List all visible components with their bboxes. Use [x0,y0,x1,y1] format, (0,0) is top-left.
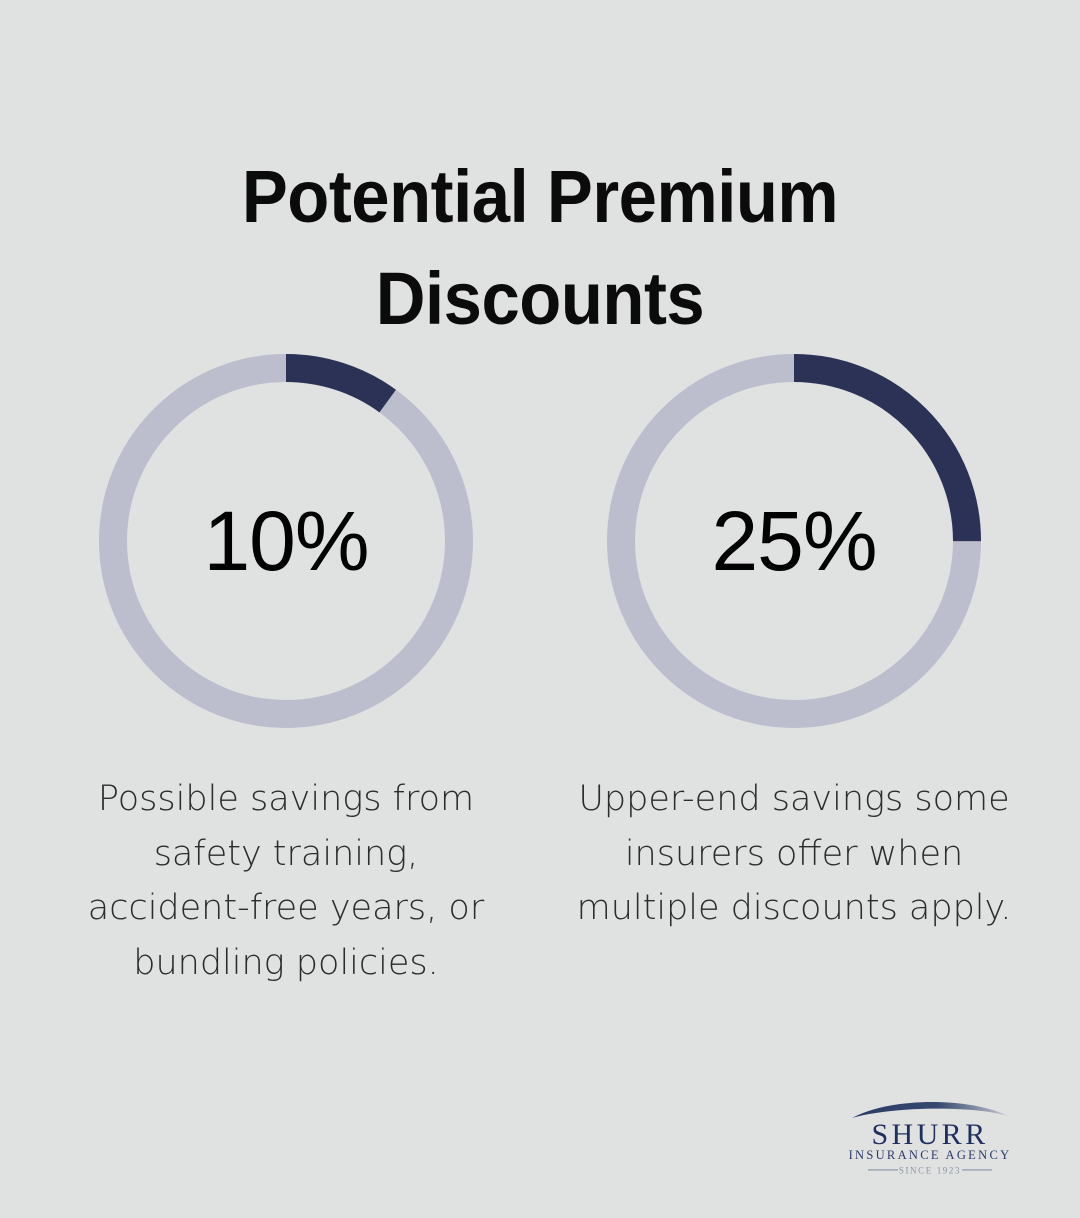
donut-chart-1: 10% [99,354,473,728]
donut-chart-block-2: 25% Upper-end savings some insurers offe… [607,354,981,1025]
donut-caption-2: Upper-end savings some insurers offer wh… [566,772,1022,936]
donut-value-2: 25% [607,354,981,728]
donut-value-1: 10% [99,354,473,728]
logo-divider-right [962,1169,992,1170]
donut-chart-block-1: 10% Possible savings from safety trainin… [99,354,473,1025]
page-title: Potential Premium Discounts [94,146,987,350]
logo-subtitle: INSURANCE AGENCY [849,1148,1012,1162]
logo-tagline: SINCE 1923 [899,1166,961,1176]
shurr-insurance-agency-logo: SHURR INSURANCE AGENCY SINCE 1923 [846,1098,1014,1180]
logo-svg: SHURR INSURANCE AGENCY SINCE 1923 [846,1098,1014,1180]
donut-chart-2: 25% [607,354,981,728]
logo-name: SHURR [871,1118,988,1151]
donut-charts-row: 10% Possible savings from safety trainin… [0,354,1080,1025]
donut-caption-1: Possible savings from safety training, a… [70,772,502,990]
infographic-canvas: Potential Premium Discounts 10% Possible… [0,0,1080,1218]
swoosh-arc-icon [852,1102,1008,1118]
logo-divider-left [868,1169,898,1170]
